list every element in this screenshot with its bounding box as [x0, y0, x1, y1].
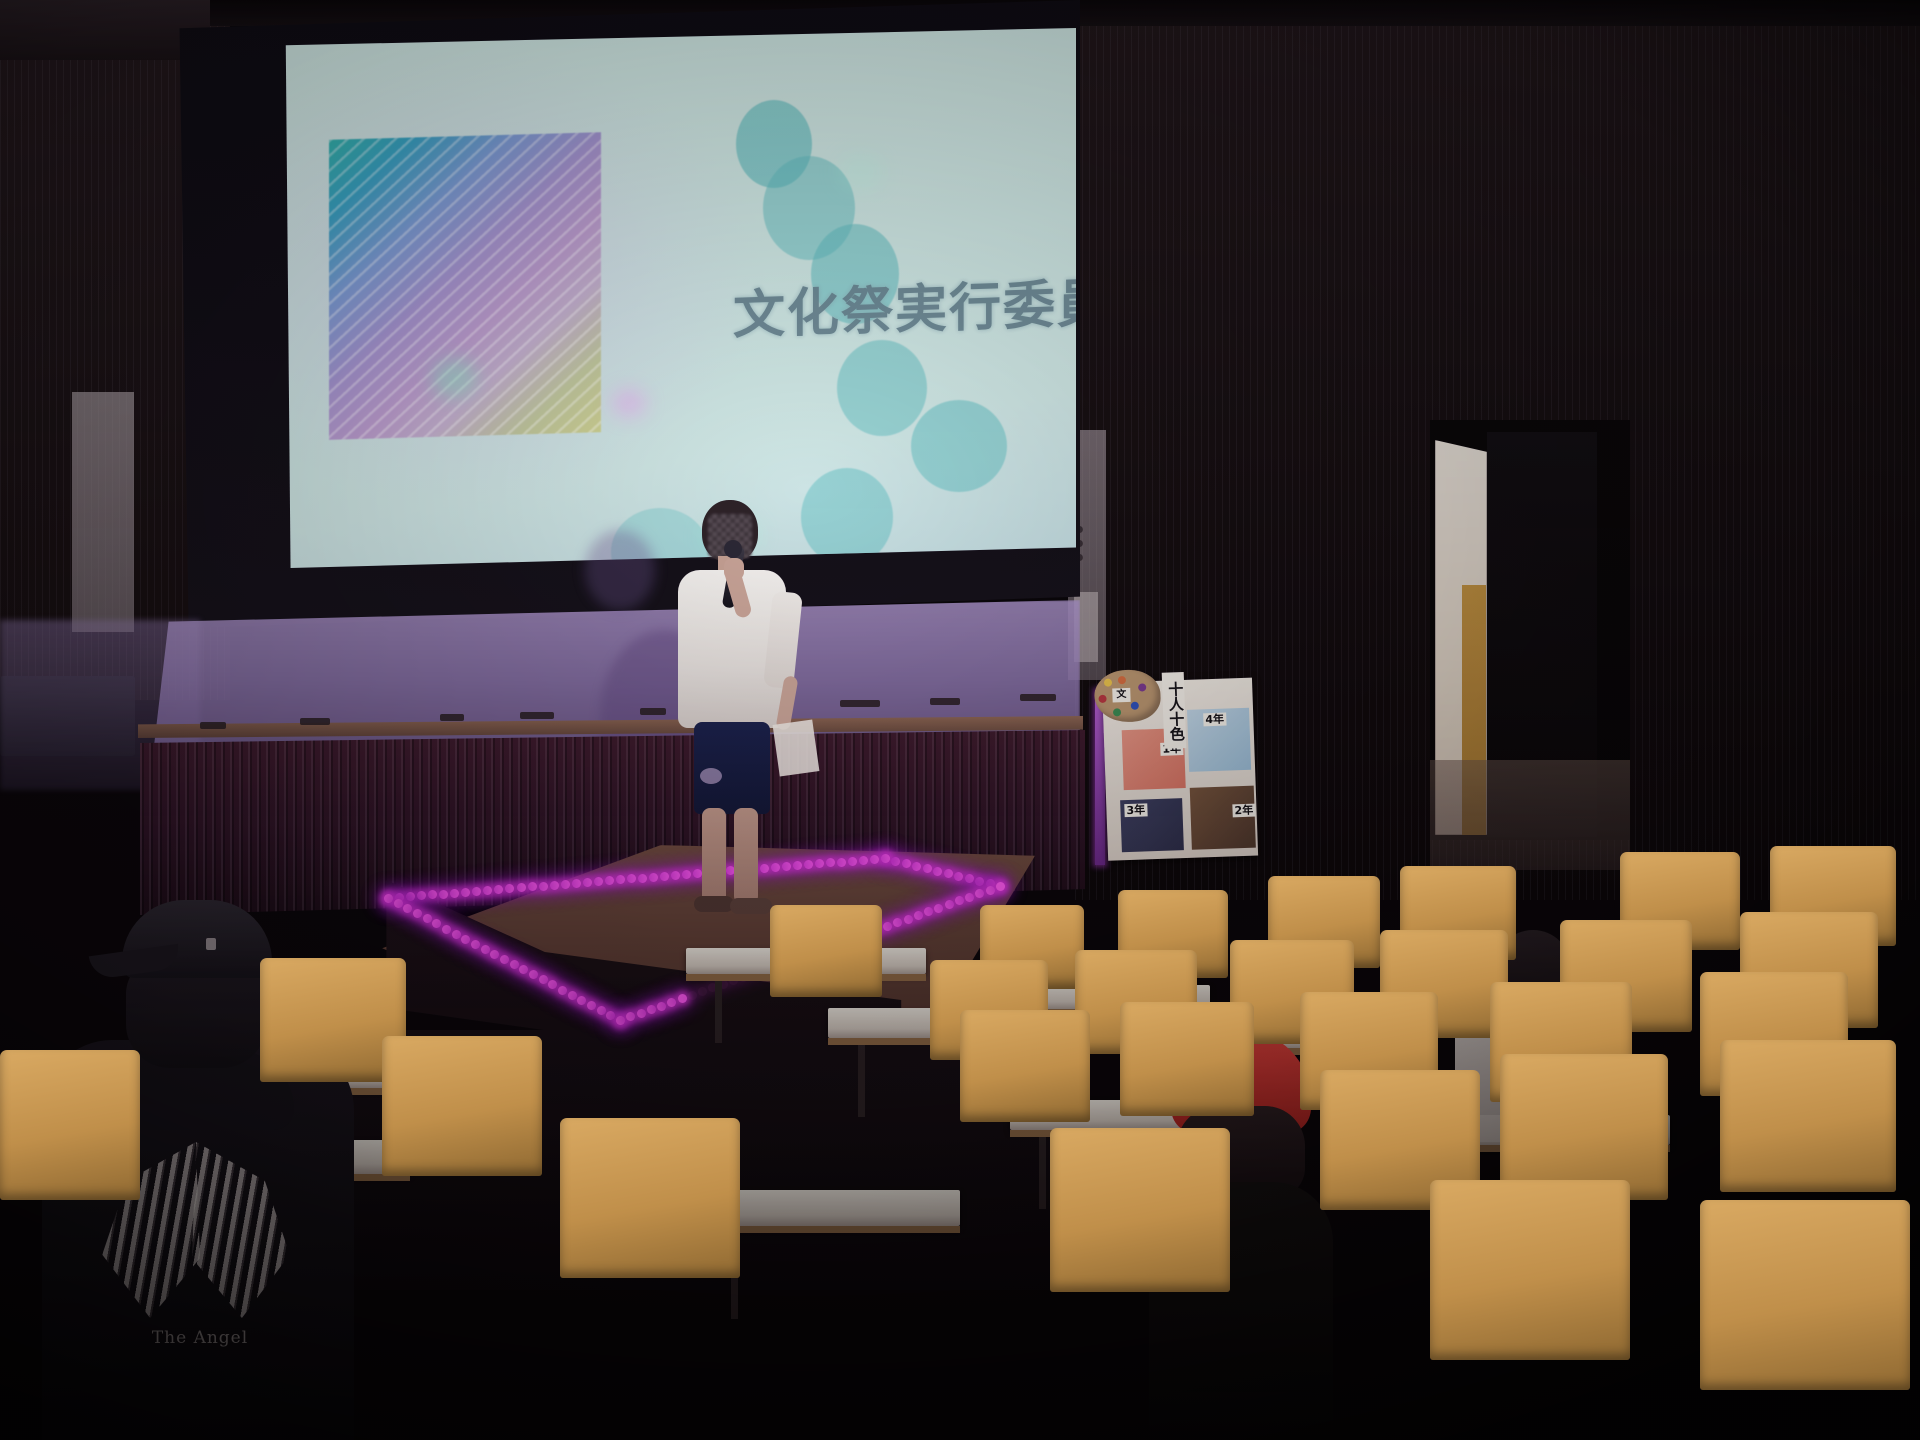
audience-seat [382, 1036, 542, 1176]
poster-board: 1年 2年 3年 4年 文 十人十色 [1102, 669, 1269, 864]
audience-seat [1050, 1128, 1230, 1292]
hoodie-wordmark: The Angel [140, 1328, 260, 1348]
seat-backrest [1430, 1180, 1630, 1360]
audience-seat [960, 1010, 1090, 1122]
audience-seat [0, 1050, 140, 1200]
ledge-object [200, 722, 226, 729]
led-light [870, 855, 879, 864]
led-light [638, 874, 647, 883]
led-light [558, 986, 567, 995]
led-light [481, 945, 490, 954]
led-light [883, 922, 892, 931]
slide-decor-dot [801, 468, 893, 566]
ledge-object [640, 708, 666, 715]
poster-headline: 十人十色 [1162, 672, 1187, 749]
led-light [944, 869, 953, 878]
led-light [848, 857, 857, 866]
led-light [914, 911, 923, 920]
led-light [678, 994, 687, 1003]
palette-blob [1104, 678, 1112, 686]
led-light [517, 883, 526, 892]
palette-blob [1138, 683, 1146, 691]
led-light [837, 858, 846, 867]
slide-title-text: 文化祭実行委員長 [733, 259, 1076, 348]
desk-leg [1039, 1137, 1046, 1209]
audience-seat [1700, 1200, 1910, 1390]
audience-seat [1720, 1040, 1896, 1192]
led-light [394, 899, 403, 908]
led-light [859, 856, 868, 865]
led-light [933, 867, 942, 876]
slide-decor-dot [911, 400, 1007, 492]
seat-backrest [1720, 1040, 1896, 1192]
audience-seat [560, 1118, 740, 1278]
led-light [450, 889, 459, 898]
led-light [649, 873, 658, 882]
wall-cabinet-left [72, 392, 134, 632]
desk-leg [858, 1045, 865, 1117]
seat-backrest [770, 905, 882, 997]
seat-backrest [960, 1010, 1090, 1122]
audience-seat [1120, 1002, 1254, 1116]
led-light [439, 890, 448, 899]
led-light [647, 1005, 656, 1014]
palette-blob [1131, 702, 1139, 710]
led-light [923, 864, 932, 873]
audience-seat [1500, 1054, 1668, 1200]
seat-backrest [1120, 1002, 1254, 1116]
led-light [561, 880, 570, 889]
led-light [500, 955, 509, 964]
ledge-object [930, 698, 960, 705]
led-light [577, 996, 586, 1005]
presenter-shoe [694, 896, 734, 912]
led-light [996, 882, 1005, 891]
led-light [881, 854, 890, 863]
led-light [986, 886, 995, 895]
poster-year-label-2: 2年 [1232, 804, 1255, 818]
audience-seat [1430, 1180, 1630, 1360]
slide-decor-dot [837, 340, 927, 436]
cap-clip-icon [206, 938, 216, 950]
led-light [572, 879, 581, 888]
led-light [657, 1002, 666, 1011]
shorts-logo [700, 768, 722, 784]
led-light [597, 1006, 606, 1015]
led-light [891, 857, 900, 866]
slide-gradient-image [329, 132, 601, 440]
presenter [672, 500, 792, 920]
lens-flare [611, 388, 647, 418]
desk-leg [715, 981, 722, 1043]
palette-blob [1098, 695, 1106, 703]
seat-backrest [1500, 1054, 1668, 1200]
led-light [471, 940, 480, 949]
ledge-object [520, 712, 554, 719]
seat-backrest [560, 1118, 740, 1278]
led-light [594, 877, 603, 886]
led-light [442, 925, 451, 934]
led-light [539, 882, 548, 891]
led-light [904, 915, 913, 924]
poster-year-label-4: 4年 [1203, 713, 1226, 727]
presenter-leg [702, 808, 726, 904]
palette-blob [1113, 708, 1121, 716]
led-light [539, 975, 548, 984]
presenter-leg [734, 808, 758, 904]
led-light [637, 1009, 646, 1018]
led-light [452, 930, 461, 939]
led-light [793, 861, 802, 870]
led-light [423, 914, 432, 923]
led-light [945, 900, 954, 909]
led-light [902, 859, 911, 868]
ledge-object [1020, 694, 1056, 701]
led-light [568, 991, 577, 1000]
held-paper [773, 719, 820, 776]
led-light [528, 882, 537, 891]
led-light [965, 893, 974, 902]
auditorium-photo: 文化祭実行委員長 [0, 0, 1920, 1440]
palette-blob [1118, 676, 1126, 684]
led-light [384, 894, 393, 903]
presenter-head-shadow [585, 530, 655, 610]
led-light [616, 1016, 625, 1025]
screen-surface: 文化祭実行委員長 [281, 28, 1076, 568]
led-light [461, 935, 470, 944]
led-light [583, 878, 592, 887]
led-light [550, 881, 559, 890]
audience-seat [770, 905, 882, 997]
poster-quadrant [1190, 786, 1256, 850]
microphone-head-icon [724, 540, 742, 558]
seat-backrest [1050, 1128, 1230, 1292]
led-light [587, 1001, 596, 1010]
corridor-floor [1430, 760, 1630, 870]
led-light [975, 877, 984, 886]
led-light [815, 859, 824, 868]
led-light [510, 960, 519, 969]
led-light [912, 862, 921, 871]
ledge-object [840, 700, 880, 707]
led-light [688, 991, 697, 1000]
seat-backrest [1700, 1200, 1910, 1390]
seat-backrest [382, 1036, 542, 1176]
led-light [804, 860, 813, 869]
presenter-shoe [730, 898, 772, 914]
led-light [954, 872, 963, 881]
poster-year-label-3: 3年 [1124, 803, 1147, 817]
led-light [965, 874, 974, 883]
presenter-hand [724, 558, 744, 580]
ledge-object [300, 718, 330, 725]
palette-label: 文 [1112, 688, 1130, 703]
ledge-object [440, 714, 464, 721]
led-light [660, 872, 669, 881]
seat-backrest [0, 1050, 140, 1200]
